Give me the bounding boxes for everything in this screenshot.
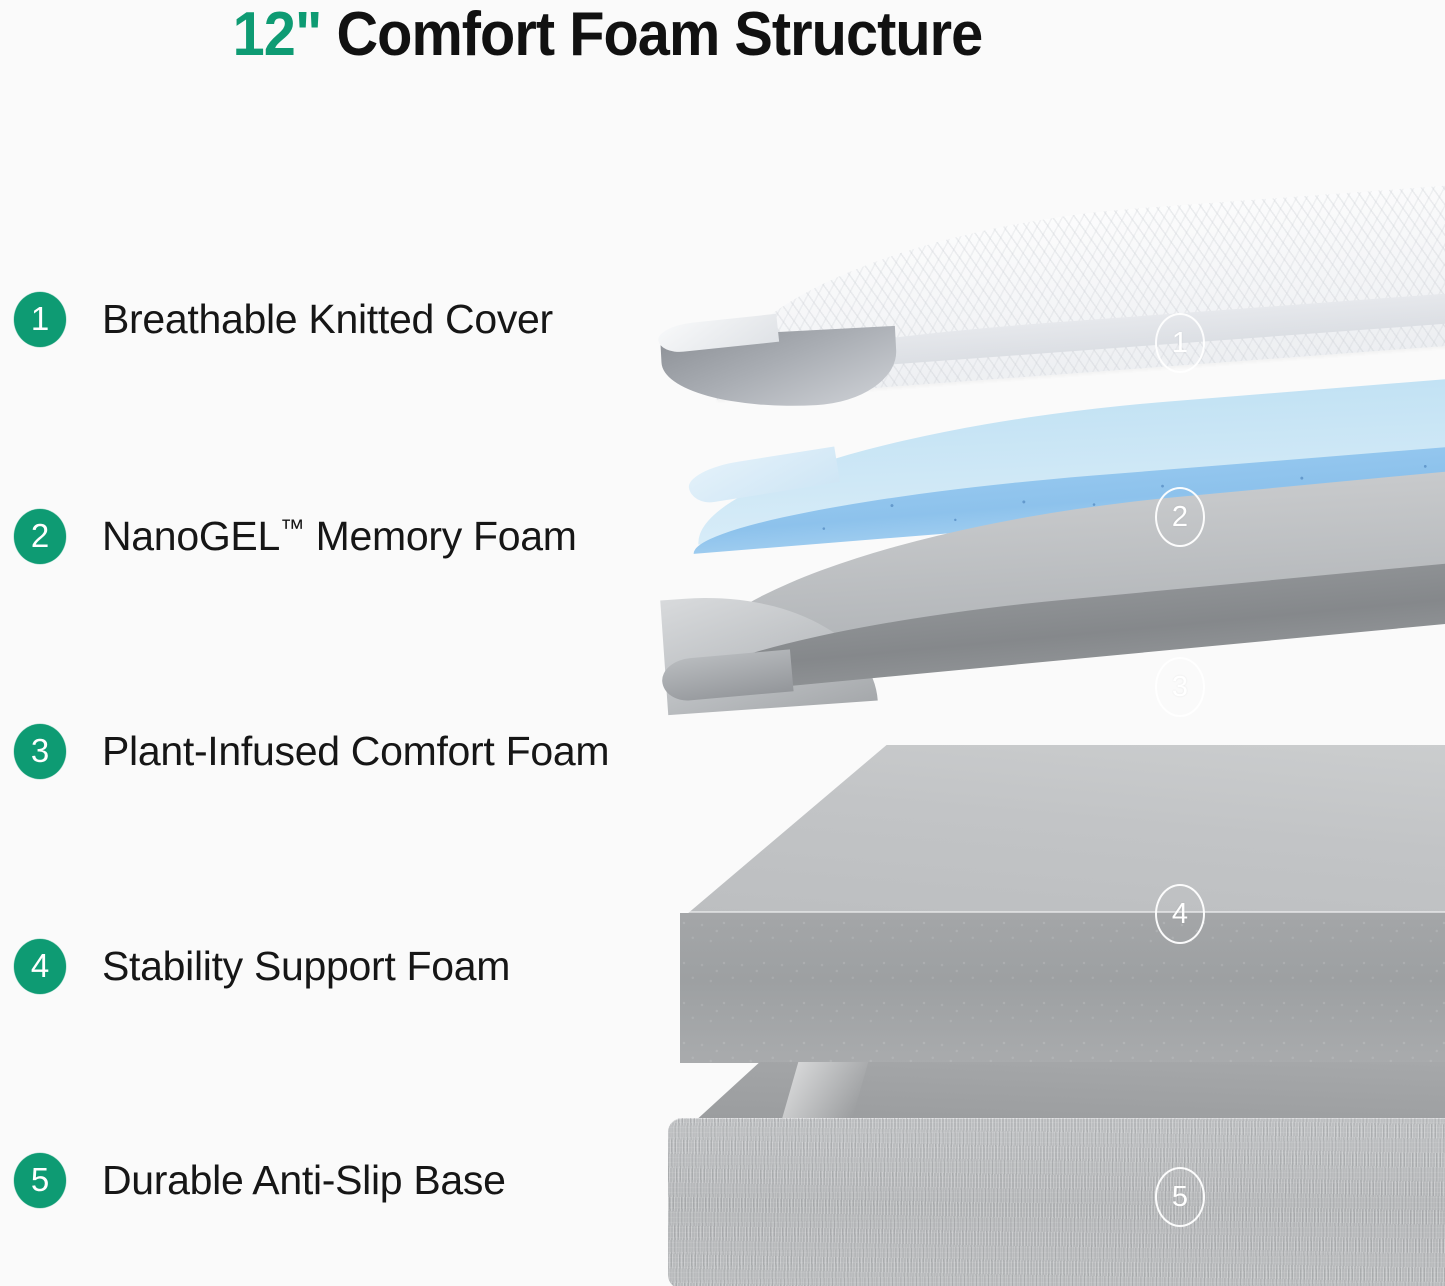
layer-durable-anti-slip-base [650,1062,1445,1286]
illustration-marker-4: 4 [1155,884,1205,944]
legend-item-durable-anti-slip-base: 5 Durable Anti-Slip Base [14,1151,506,1209]
legend-label-2: NanoGEL™ Memory Foam [102,513,577,560]
legend-badge-2: 2 [14,509,66,564]
legend-item-nanogel-memory-foam: 2 NanoGEL™ Memory Foam [14,507,577,565]
layer-plant-infused-comfort-foam [650,545,1445,760]
legend-badge-3: 3 [14,724,66,779]
illustration-marker-1: 1 [1155,313,1205,373]
legend-label-5: Durable Anti-Slip Base [102,1157,506,1204]
illustration-marker-3: 3 [1155,657,1205,717]
legend-label-1: Breathable Knitted Cover [102,296,553,343]
illustration-marker-5: 5 [1155,1167,1205,1227]
legend-badge-1: 1 [14,292,66,347]
layer-stability-support-foam [650,745,1445,1075]
illustration-marker-2: 2 [1155,487,1205,547]
legend-item-stability-support-foam: 4 Stability Support Foam [14,937,510,995]
trademark-symbol: ™ [280,515,305,542]
title-size-value: 12" [233,0,322,69]
legend-label-2-suffix: Memory Foam [305,513,577,559]
legend-label-2-main: NanoGEL [102,513,280,559]
support-top-face [680,745,1445,920]
legend-item-breathable-knitted-cover: 1 Breathable Knitted Cover [14,290,553,348]
legend-label-4: Stability Support Foam [102,943,510,990]
mattress-layer-illustration: 1 2 3 4 5 [650,0,1445,1286]
legend-badge-5: 5 [14,1153,66,1208]
legend-item-plant-infused-comfort-foam: 3 Plant-Infused Comfort Foam [14,722,609,780]
product-layer-infographic: 12" Comfort Foam Structure 1 Breathable … [0,0,1445,1286]
legend-badge-4: 4 [14,939,66,994]
legend-label-3: Plant-Infused Comfort Foam [102,728,609,775]
base-fabric-texture [668,1118,1445,1286]
support-front-face [680,913,1445,1063]
